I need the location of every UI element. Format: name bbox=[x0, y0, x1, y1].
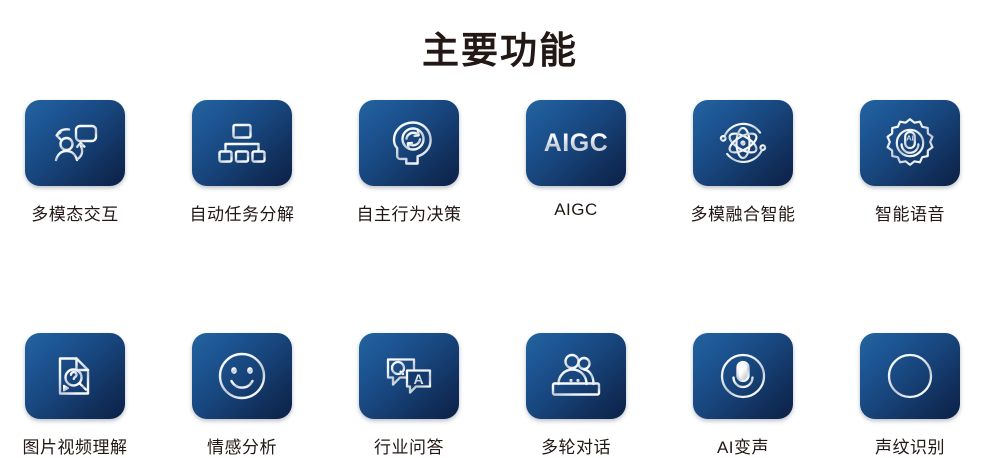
feature-tile[interactable] bbox=[192, 333, 292, 419]
feature-label: 智能语音 bbox=[875, 200, 945, 225]
user-screen-exchange-icon bbox=[48, 119, 102, 167]
feature-tile[interactable] bbox=[526, 333, 626, 419]
feature-item-auto-task-decomposition[interactable]: 自动任务分解 bbox=[192, 100, 292, 225]
feature-label: 多模融合智能 bbox=[691, 200, 796, 225]
feature-label: 自主行为决策 bbox=[357, 200, 462, 225]
feature-grid: 多模态交互 自动任务分解 bbox=[0, 100, 1000, 458]
page-title: 主要功能 bbox=[0, 29, 1000, 73]
feature-label: 自动任务分解 bbox=[190, 200, 295, 225]
feature-item-multimodal-interaction[interactable]: 多模态交互 bbox=[25, 100, 125, 225]
feature-item-image-video-understanding[interactable]: 图片视频理解 bbox=[25, 333, 125, 458]
feature-item-multimodal-fusion[interactable]: 多模融合智能 bbox=[693, 100, 793, 225]
feature-tile[interactable] bbox=[693, 100, 793, 186]
feature-row-2: 图片视频理解 情感分析 bbox=[0, 333, 1000, 458]
feature-label: 多轮对话 bbox=[541, 433, 611, 458]
atom-orbit-icon bbox=[716, 117, 770, 169]
feature-label: 图片视频理解 bbox=[23, 433, 128, 458]
feature-tile[interactable]: AI bbox=[860, 100, 960, 186]
feature-item-ai-voice-change[interactable]: AI变声 bbox=[693, 333, 793, 458]
feature-item-voiceprint-recognition[interactable]: 声纹识别 bbox=[860, 333, 960, 458]
gear-microphone-ai-icon: AI bbox=[883, 116, 937, 170]
qa-speech-bubbles-icon: A bbox=[382, 352, 436, 400]
feature-tile[interactable] bbox=[192, 100, 292, 186]
feature-tile[interactable] bbox=[25, 100, 125, 186]
feature-tile[interactable] bbox=[693, 333, 793, 419]
feature-label: 多模态交互 bbox=[31, 200, 119, 225]
feature-item-sentiment-analysis[interactable]: 情感分析 bbox=[192, 333, 292, 458]
feature-item-industry-qa[interactable]: A 行业问答 bbox=[359, 333, 459, 458]
feature-item-multi-turn-dialogue[interactable]: 多轮对话 bbox=[526, 333, 626, 458]
feature-item-aigc[interactable]: AIGC AIGC bbox=[526, 100, 626, 225]
microphone-circle-icon bbox=[717, 350, 769, 402]
feature-tile[interactable] bbox=[860, 333, 960, 419]
voiceprint-waveform-icon bbox=[884, 350, 936, 402]
smiley-face-icon bbox=[216, 350, 268, 402]
feature-tile[interactable]: AIGC bbox=[526, 100, 626, 186]
feature-label: 行业问答 bbox=[374, 433, 444, 458]
two-people-table-icon bbox=[547, 352, 605, 400]
feature-tile[interactable] bbox=[25, 333, 125, 419]
feature-tile[interactable] bbox=[359, 100, 459, 186]
svg-text:A: A bbox=[413, 371, 423, 387]
document-magnifier-icon bbox=[52, 350, 98, 402]
feature-item-smart-voice[interactable]: AI 智能语音 bbox=[860, 100, 960, 225]
feature-row-1: 多模态交互 自动任务分解 bbox=[0, 100, 1000, 225]
feature-item-autonomous-decision[interactable]: 自主行为决策 bbox=[359, 100, 459, 225]
head-refresh-icon bbox=[383, 118, 435, 168]
feature-label: AIGC bbox=[554, 200, 598, 220]
feature-label: AI变声 bbox=[717, 433, 769, 458]
org-chart-icon bbox=[217, 120, 267, 166]
feature-tile[interactable]: A bbox=[359, 333, 459, 419]
feature-label: 声纹识别 bbox=[875, 433, 945, 458]
svg-text:AI: AI bbox=[906, 133, 914, 142]
feature-label: 情感分析 bbox=[207, 433, 277, 458]
aigc-text-icon: AIGC bbox=[544, 129, 609, 158]
